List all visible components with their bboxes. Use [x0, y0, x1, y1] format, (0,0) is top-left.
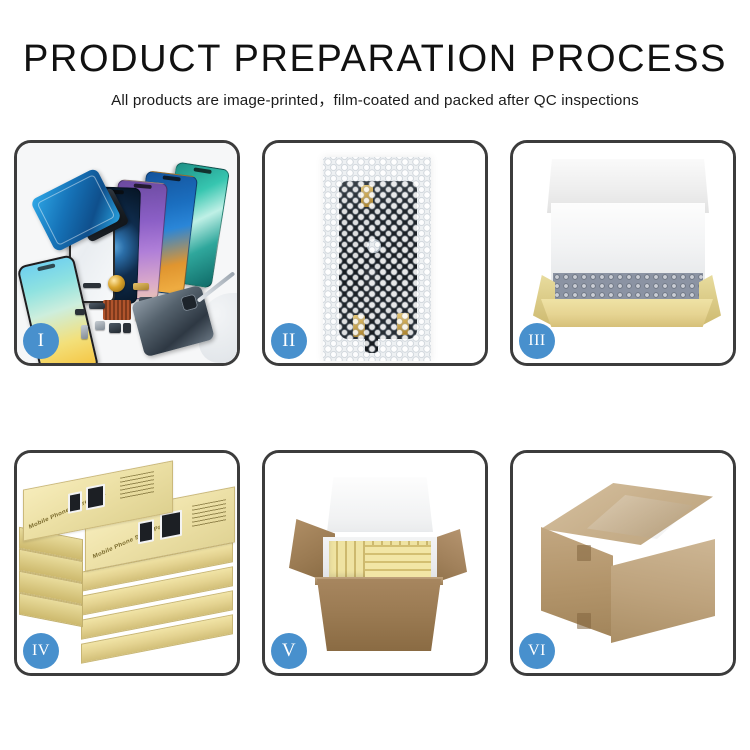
- small-part-icon: [95, 321, 105, 330]
- label-phone-thumb-icon: [68, 491, 82, 514]
- step-badge-3: III: [519, 323, 555, 359]
- page-title: PRODUCT PREPARATION PROCESS: [0, 38, 750, 81]
- notch-icon: [163, 175, 181, 181]
- step-badge-6: VI: [519, 633, 555, 669]
- packed-boxes-row-icon: [365, 545, 431, 577]
- notch-icon: [37, 263, 55, 271]
- step-badge-4: IV: [23, 633, 59, 669]
- process-step-panel-3: Open yellow kraft box with white foam sh…: [510, 140, 736, 366]
- chip-grid-part-icon: [103, 300, 131, 320]
- bubble-wrap-bag-icon: [323, 157, 431, 361]
- small-part-icon: [81, 325, 88, 339]
- packing-tape-icon: [577, 545, 591, 561]
- label-spec-lines-icon: [192, 499, 226, 528]
- process-step-panel-4: Mobile Phone Spare Parts Mobile Phone Sp…: [14, 450, 240, 676]
- box-front-panel-icon: [541, 299, 713, 327]
- label-phone-thumb-icon: [86, 484, 105, 511]
- small-part-icon: [89, 303, 105, 309]
- step-badge-1: I: [23, 323, 59, 359]
- notch-icon: [193, 167, 211, 174]
- page-subtitle: All products are image-printed，film-coat…: [0, 88, 750, 110]
- process-step-panel-6: Sealed and taped outer shipping carton r…: [510, 450, 736, 676]
- process-step-panel-1: Mobile phone LCD screens, display assemb…: [14, 140, 240, 366]
- grey-bubble-wrap-icon: [553, 273, 703, 303]
- styrofoam-lid-icon: [327, 477, 433, 541]
- process-step-panel-5: Boxes loaded into styrofoam cooler insid…: [262, 450, 488, 676]
- carton-front-panel-icon: [317, 579, 441, 651]
- small-part-icon: [83, 283, 101, 288]
- label-phone-thumb-icon: [138, 519, 154, 544]
- small-part-icon: [133, 283, 149, 290]
- product-preparation-process-page: PRODUCT PREPARATION PROCESS All products…: [0, 0, 750, 750]
- small-part-icon: [123, 323, 131, 333]
- box-label-text: Mobile Phone Spare Parts: [92, 521, 170, 560]
- bubble-texture-icon: [323, 157, 431, 361]
- small-part-icon: [109, 323, 121, 333]
- packing-tape-icon: [577, 613, 591, 629]
- page-header: PRODUCT PREPARATION PROCESS All products…: [0, 0, 750, 128]
- foam-sheet-icon: [551, 203, 705, 281]
- gold-coil-part-icon: [108, 275, 125, 292]
- process-step-panel-2: Single part sealed in bubble wrap bag II: [262, 140, 488, 366]
- step-badge-2: II: [271, 323, 307, 359]
- step-badge-5: V: [271, 633, 307, 669]
- small-part-icon: [75, 309, 85, 315]
- label-spec-lines-icon: [120, 471, 154, 500]
